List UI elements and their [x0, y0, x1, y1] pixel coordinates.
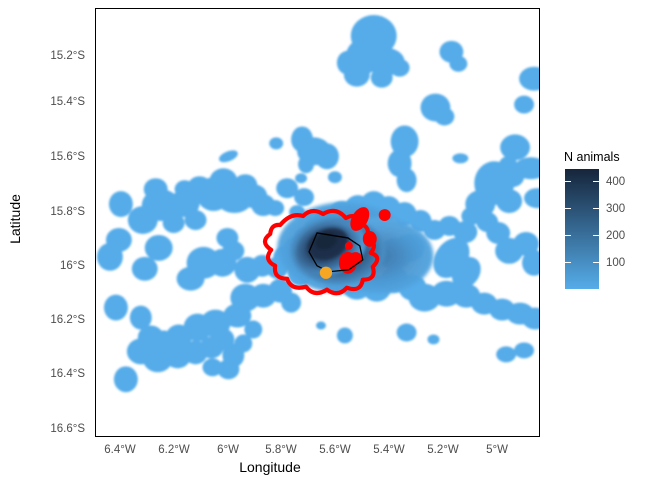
colorbar-label: 200 — [606, 230, 625, 242]
y-tick-label: 15.4°S — [50, 96, 85, 108]
x-tick-label: 6.2°W — [158, 444, 189, 456]
legend: N animals 400 300 200 100 — [563, 150, 663, 295]
colorbar-tick — [593, 181, 599, 182]
y-tick-label: 15.2°S — [50, 50, 85, 62]
x-tick-label: 5.2°W — [427, 444, 458, 456]
plot-figure: 15.2°S 15.4°S 15.6°S 15.8°S 16°S 16.2°S … — [0, 0, 672, 480]
legend-title: N animals — [564, 150, 663, 164]
colorbar-tick — [565, 208, 571, 209]
y-tick-label: 16.4°S — [50, 368, 85, 380]
x-tick-label: 5.8°W — [265, 444, 296, 456]
density-map — [96, 9, 539, 436]
colorbar-label: 400 — [606, 176, 625, 188]
x-tick-mark — [0, 46, 1, 51]
colorbar-tick — [593, 208, 599, 209]
colorbar-tick — [565, 262, 571, 263]
colorbar-tick — [565, 235, 571, 236]
map-panel — [95, 8, 540, 437]
y-axis-title-text: Latitude — [7, 194, 23, 244]
colorbar-label: 300 — [606, 203, 625, 215]
x-tick-label: 6°W — [217, 444, 239, 456]
site-marker — [320, 267, 332, 279]
x-tick-label: 5.6°W — [319, 444, 350, 456]
colorbar — [565, 169, 599, 289]
y-axis-title: Latitude — [6, 0, 24, 437]
x-tick-label: 5°W — [486, 444, 508, 456]
colorbar-tick — [565, 181, 571, 182]
y-tick-label: 15.8°S — [50, 206, 85, 218]
y-tick-label: 15.6°S — [50, 151, 85, 163]
y-tick-label: 16.2°S — [50, 314, 85, 326]
colorbar-label: 100 — [606, 257, 625, 269]
colorbar-tick — [593, 235, 599, 236]
density-blobs-low — [97, 15, 539, 392]
x-axis-title: Longitude — [0, 459, 540, 475]
x-tick-label: 5.4°W — [373, 444, 404, 456]
x-tick-label: 6.4°W — [104, 444, 135, 456]
y-tick-label: 16.6°S — [50, 423, 85, 435]
colorbar-tick — [593, 262, 599, 263]
legend-body: 400 300 200 100 — [563, 169, 663, 295]
y-tick-label: 16°S — [60, 260, 85, 272]
